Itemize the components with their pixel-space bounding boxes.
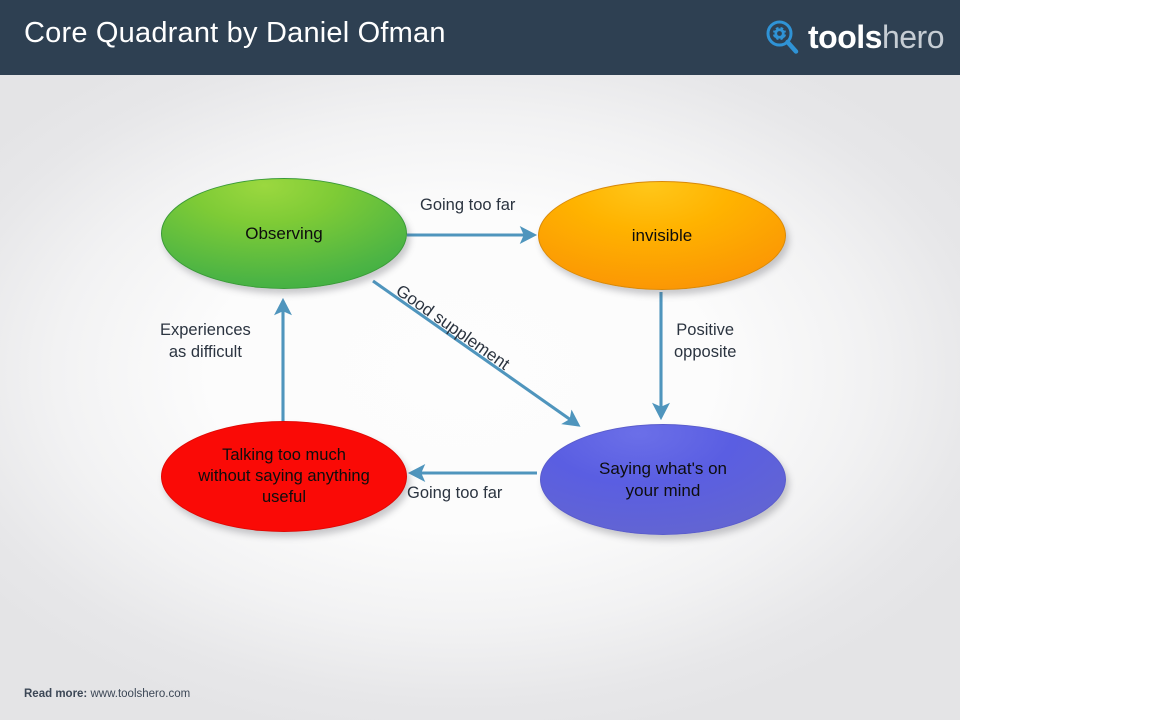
node-allergy[interactable]: Talking too muchwithout saying anythingu… [161, 421, 407, 532]
node-label-line2: without saying anything [198, 467, 370, 485]
node-label-line1: Saying what's on [599, 459, 727, 478]
footer-prefix: Read more: [24, 688, 87, 700]
diagram-area: Observing invisible Talking too muchwith… [0, 75, 960, 720]
edge-label-positive-opposite: Positiveopposite [674, 320, 736, 364]
logo-wordmark: toolshero [808, 20, 944, 54]
slide-canvas: Core Quadrant by Daniel Ofman [0, 0, 960, 720]
logo-light-text: hero [882, 19, 944, 55]
node-label: Talking too muchwithout saying anythingu… [184, 445, 384, 508]
node-label: Saying what's onyour mind [585, 458, 741, 502]
node-pitfall[interactable]: invisible [538, 181, 786, 290]
node-challenge[interactable]: Saying what's onyour mind [540, 424, 786, 535]
logo-bold-text: tools [808, 19, 882, 55]
edge-label-experiences-as-difficult: Experiencesas difficult [160, 320, 251, 364]
footer-url[interactable]: www.toolshero.com [90, 688, 190, 700]
core-quadrant-arrows [0, 75, 960, 720]
toolshero-logo[interactable]: toolshero [765, 14, 944, 60]
edge-label-line1: Positive [676, 321, 734, 339]
footer-read-more: Read more: www.toolshero.com [24, 688, 190, 700]
edge-label-line1: Experiences [160, 321, 251, 339]
edge-label-going-too-far-bottom: Going too far [407, 483, 502, 505]
node-label-line1: Talking too much [222, 446, 346, 464]
node-label: invisible [618, 225, 706, 247]
edge-label-line2: as difficult [169, 343, 242, 361]
magnifier-gear-icon [765, 20, 799, 54]
node-label-line3: useful [262, 488, 306, 506]
node-label: Observing [231, 223, 336, 245]
edge-label-line2: opposite [674, 343, 736, 361]
node-label-line2: your mind [626, 481, 701, 500]
page-title: Core Quadrant by Daniel Ofman [24, 17, 446, 50]
slide-header: Core Quadrant by Daniel Ofman [0, 0, 960, 75]
edge-label-going-too-far-top: Going too far [420, 195, 515, 217]
node-core-quality[interactable]: Observing [161, 178, 407, 289]
